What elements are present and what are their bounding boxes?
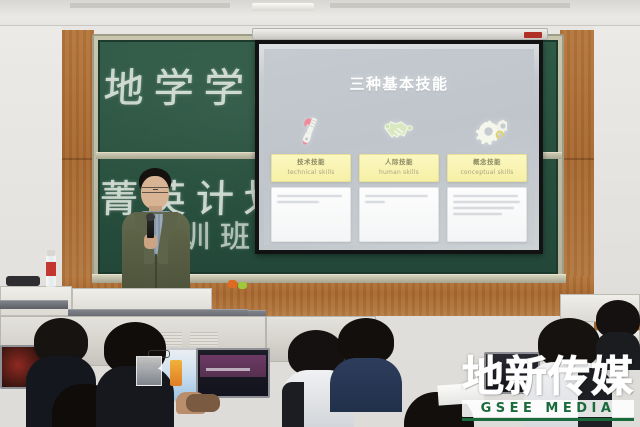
skill-card-technical: 技术技能 technical skills	[271, 154, 351, 242]
ceiling-slat	[70, 3, 230, 8]
skill-card-conceptual: 概念技能 conceptual skills	[447, 154, 527, 242]
skill-cards-row: 技术技能 technical skills 人际技能 human skills	[271, 154, 527, 242]
skill-card-header: 技术技能 technical skills	[271, 154, 351, 182]
bottle-cap	[47, 250, 55, 256]
audience-member	[596, 300, 640, 370]
laptop-screen-text-line	[206, 368, 250, 371]
laptop-screen-content	[136, 356, 162, 386]
projector-screen: 三种基本技能	[259, 44, 539, 250]
ceiling-slat	[330, 3, 570, 8]
desk-item-orange	[228, 280, 237, 288]
slide-icon-row	[264, 109, 534, 151]
right-wall	[594, 26, 640, 304]
skill-name-en: technical skills	[274, 168, 348, 177]
desk-item-green	[238, 282, 247, 289]
skill-card-body	[359, 187, 439, 242]
ceiling-light	[252, 3, 314, 11]
audience-member	[330, 318, 402, 412]
skill-name-cn: 技术技能	[274, 158, 348, 168]
desk-clutter	[6, 276, 40, 286]
audience-member	[96, 322, 174, 427]
skill-card-header: 人际技能 human skills	[359, 154, 439, 182]
skill-card-body	[447, 187, 527, 242]
skill-name-cn: 人际技能	[362, 158, 436, 168]
speaker-glasses-bridge	[153, 189, 158, 190]
skill-card-human: 人际技能 human skills	[359, 154, 439, 242]
skill-name-en: conceptual skills	[450, 168, 524, 177]
projector-screen-housing	[252, 28, 548, 40]
wrench-screwdriver-icon	[272, 109, 346, 151]
housing-brand-label	[524, 32, 542, 38]
audience-hand	[186, 394, 220, 412]
wood-column-right	[560, 30, 594, 313]
laptop-screen-accent	[170, 360, 182, 386]
skill-name-cn: 概念技能	[450, 158, 524, 168]
wood-column-left	[62, 30, 94, 313]
skill-card-body	[271, 187, 351, 242]
laptop-screen-purple-bar	[200, 355, 266, 377]
handshake-icon	[362, 109, 436, 151]
microphone-head	[146, 213, 155, 221]
bottle-label	[46, 262, 56, 276]
console-control-strip	[0, 300, 68, 309]
speaker-figure	[108, 168, 204, 308]
gears-icon	[452, 109, 526, 151]
skill-card-header: 概念技能 conceptual skills	[447, 154, 527, 182]
skill-name-en: human skills	[362, 168, 436, 177]
paper-sheet	[437, 382, 484, 405]
slide-title: 三种基本技能	[264, 73, 534, 94]
presentation-slide: 三种基本技能	[264, 49, 534, 245]
console-vent	[190, 332, 218, 346]
lecture-hall-photo: 地学学院 菁英计划 培训班 三种基本技能	[0, 0, 640, 427]
